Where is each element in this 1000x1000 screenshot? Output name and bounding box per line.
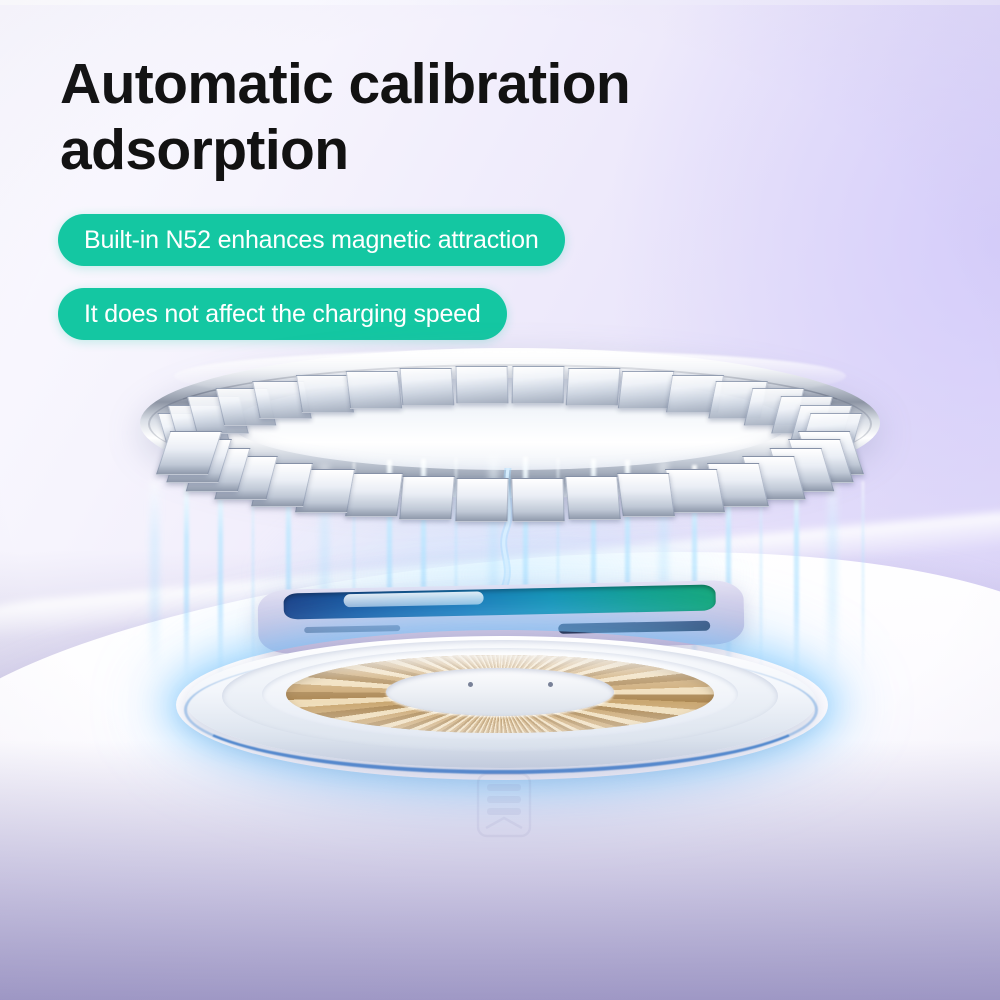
coil-contact-dot — [468, 682, 473, 687]
magnet-segment — [566, 476, 622, 520]
magnet-segment — [665, 469, 725, 513]
magnet-segment — [455, 478, 508, 522]
coil-contact-dot — [548, 682, 553, 687]
magnet-segment — [346, 371, 403, 409]
magnet-segment — [511, 478, 564, 522]
product-feature-banner: Automatic calibration adsorption Built-i… — [0, 0, 1000, 1000]
magnet-segment — [345, 473, 403, 517]
magnet-segment — [618, 371, 675, 409]
magnet-segment — [617, 473, 675, 517]
magnet-segment — [512, 366, 565, 404]
background-top-highlight — [0, 0, 1000, 5]
magnet-segment — [455, 366, 508, 404]
headline-line-2: adsorption — [60, 118, 820, 184]
magnet-segment — [399, 368, 454, 406]
smartphone-side-button — [304, 625, 400, 633]
brand-watermark-icon — [466, 770, 542, 848]
page-title: Automatic calibration adsorption — [60, 52, 820, 183]
feature-badge-charging-speed: It does not affect the charging speed — [58, 288, 507, 340]
feature-badge-charging-speed-label: It does not affect the charging speed — [84, 300, 481, 329]
charging-coil-hub — [386, 668, 614, 716]
magnet-segment — [399, 476, 455, 520]
magnet-segment — [566, 368, 621, 406]
feature-badge-magnetic-label: Built-in N52 enhances magnetic attractio… — [84, 226, 539, 255]
feature-badge-magnetic: Built-in N52 enhances magnetic attractio… — [58, 214, 565, 266]
headline-line-1: Automatic calibration — [60, 52, 630, 116]
magnet-segment — [296, 375, 354, 413]
